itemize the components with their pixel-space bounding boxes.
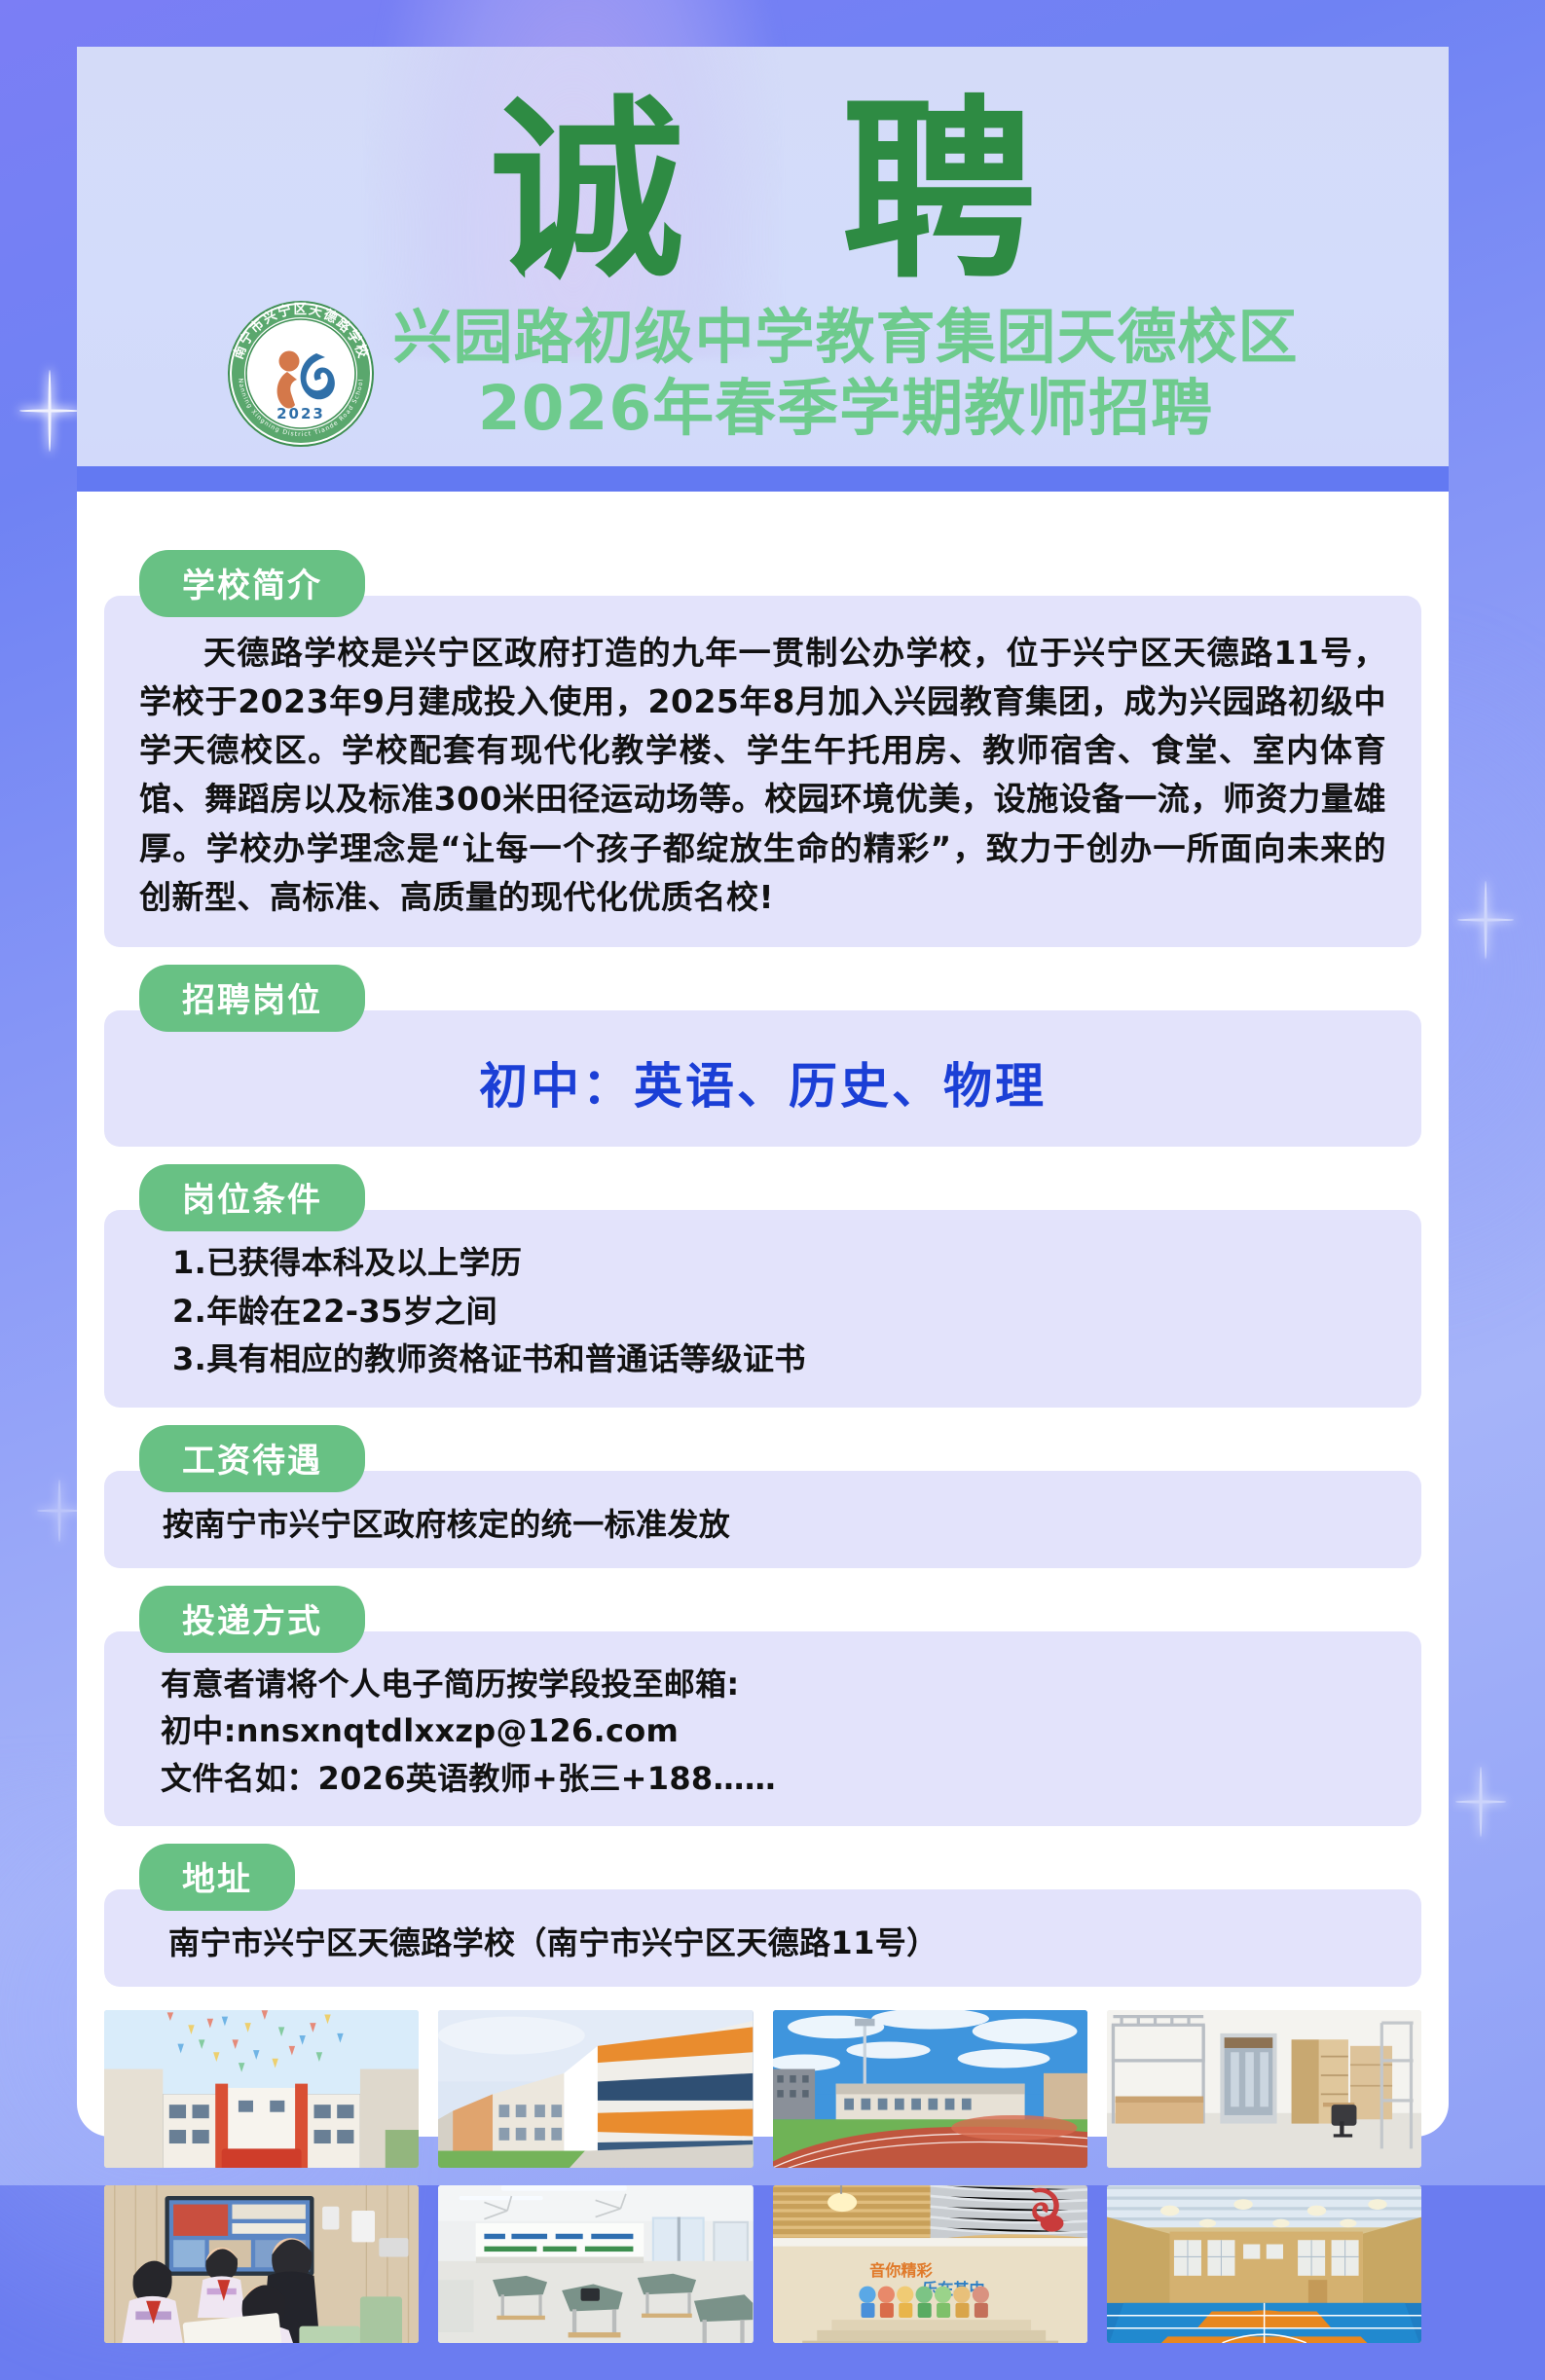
- panel-requirements: 1.已获得本科及以上学历 2.年龄在22-35岁之间 3.具有相应的教师资格证书…: [104, 1210, 1421, 1408]
- section-pill-apply: 投递方式: [139, 1586, 365, 1653]
- requirement-item: 3.具有相应的教师资格证书和普通话等级证书: [139, 1336, 1386, 1384]
- section-positions: 招聘岗位 初中：英语、历史、物理: [104, 965, 1421, 1147]
- salary-text: 按南宁市兴宁区政府核定的统一标准发放: [139, 1500, 1386, 1545]
- poster-body-card: 学校简介 天德路学校是兴宁区政府打造的九年一贯制公办学校，位于兴宁区天德路11号…: [77, 492, 1449, 2137]
- photo-sports-field-track: [773, 2010, 1087, 2168]
- section-pill-school-intro: 学校简介: [139, 550, 365, 617]
- panel-school-intro: 天德路学校是兴宁区政府打造的九年一贯制公办学校，位于兴宁区天德路11号，学校于2…: [104, 596, 1421, 947]
- sparkle-icon: [19, 370, 80, 452]
- photo-campus-flags-ceiling: [104, 2010, 419, 2168]
- panel-apply: 有意者请将个人电子简历按学段投至邮箱: 初中:nnsxnqtdlxxzp@126…: [104, 1631, 1421, 1826]
- section-address: 地址 南宁市兴宁区天德路学校（南宁市兴宁区天德路11号）: [104, 1844, 1421, 1987]
- requirement-item: 1.已获得本科及以上学历: [139, 1239, 1386, 1288]
- photo-science-lab: [438, 2185, 753, 2343]
- header-subtitle-row: 南宁市兴宁区天德路学校 Nanning Xingning District Ti…: [77, 300, 1449, 448]
- sparkle-icon: [37, 1480, 82, 1542]
- subtitle-line-1: 兴园路初级中学教育集团天德校区: [392, 304, 1298, 373]
- poster-header: 诚 聘 南宁市兴宁区天德路学校 Nanning Xingning Distric…: [77, 47, 1449, 466]
- sparkle-icon: [1455, 1767, 1506, 1837]
- section-pill-requirements: 岗位条件: [139, 1164, 365, 1231]
- requirement-item: 2.年龄在22-35岁之间: [139, 1288, 1386, 1336]
- section-requirements: 岗位条件 1.已获得本科及以上学历 2.年龄在22-35岁之间 3.具有相应的教…: [104, 1164, 1421, 1408]
- photo-indoor-gymnasium: [1107, 2185, 1421, 2343]
- apply-email[interactable]: 初中:nnsxnqtdlxxzp@126.com: [139, 1707, 1386, 1755]
- section-salary: 工资待遇 按南宁市兴宁区政府核定的统一标准发放: [104, 1425, 1421, 1568]
- section-pill-positions: 招聘岗位: [139, 965, 365, 1032]
- photo-music-dance-room: 音你精彩 乐在其中: [773, 2185, 1087, 2343]
- school-intro-text: 天德路学校是兴宁区政府打造的九年一贯制公办学校，位于兴宁区天德路11号，学校于2…: [139, 629, 1386, 922]
- section-school-intro: 学校简介 天德路学校是兴宁区政府打造的九年一贯制公办学校，位于兴宁区天德路11号…: [104, 550, 1421, 947]
- campus-photo-grid: 音你精彩 乐在其中: [104, 2010, 1421, 2343]
- photo-classroom-group-study: [104, 2185, 419, 2343]
- subtitle-line-2: 2026年春季学期教师招聘: [392, 373, 1298, 444]
- svg-text:2023: 2023: [277, 405, 326, 422]
- apply-instruction: 有意者请将个人电子简历按学段投至邮箱:: [139, 1661, 1386, 1708]
- address-text: 南宁市兴宁区天德路学校（南宁市兴宁区天德路11号）: [139, 1919, 1386, 1963]
- sparkle-icon: [1457, 881, 1514, 959]
- photo-teaching-building-exterior: [438, 2010, 753, 2168]
- section-pill-address: 地址: [139, 1844, 295, 1911]
- section-pill-salary: 工资待遇: [139, 1425, 365, 1492]
- panel-address: 南宁市兴宁区天德路学校（南宁市兴宁区天德路11号）: [104, 1889, 1421, 1987]
- section-apply: 投递方式 有意者请将个人电子简历按学段投至邮箱: 初中:nnsxnqtdlxxz…: [104, 1586, 1421, 1826]
- page-title: 诚 聘: [77, 95, 1449, 290]
- photo-teacher-dormitory: [1107, 2010, 1421, 2168]
- apply-filename-format: 文件名如：2026英语教师+张三+188……: [139, 1755, 1386, 1803]
- positions-text: 初中：英语、历史、物理: [139, 1040, 1386, 1123]
- svg-text:音你精彩: 音你精彩: [869, 2260, 933, 2279]
- header-subtitle-text: 兴园路初级中学教育集团天德校区 2026年春季学期教师招聘: [392, 304, 1298, 444]
- school-logo: 南宁市兴宁区天德路学校 Nanning Xingning District Ti…: [227, 300, 375, 448]
